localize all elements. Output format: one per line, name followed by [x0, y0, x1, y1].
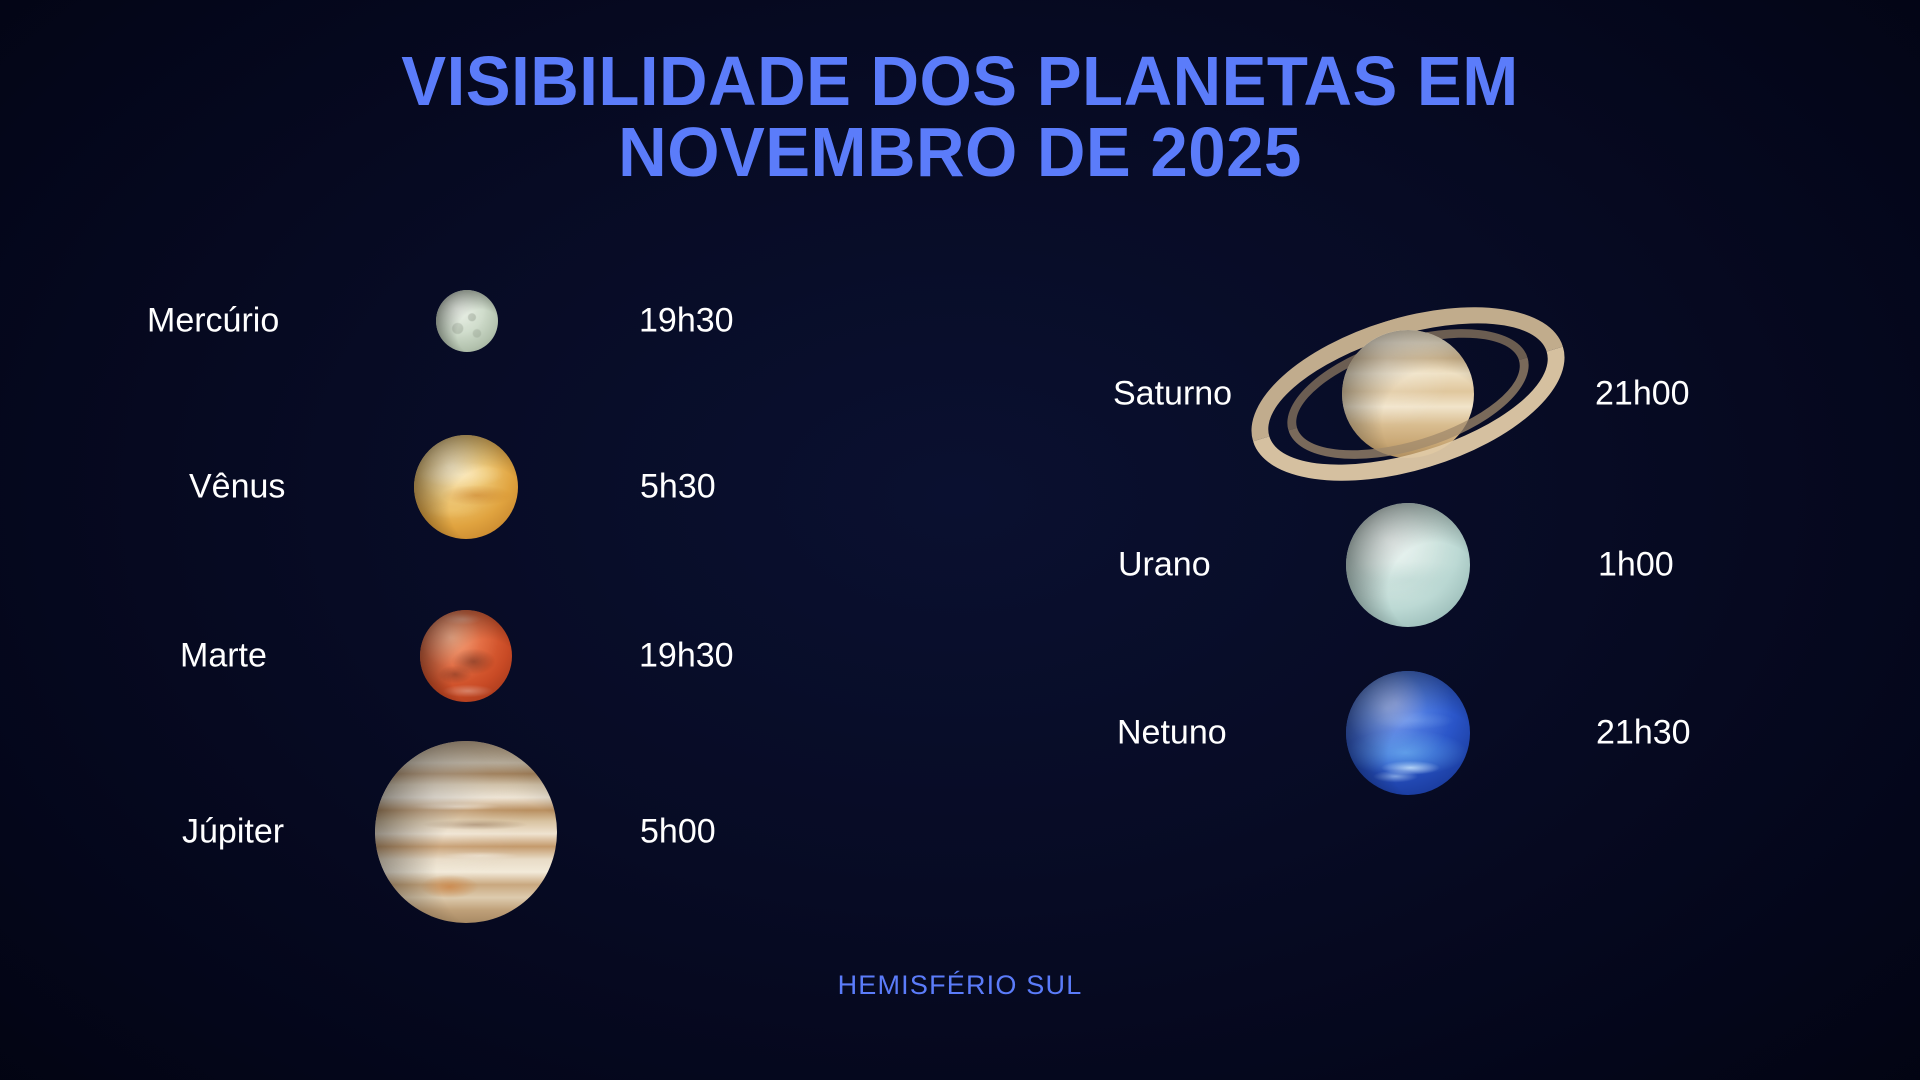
hemisphere-caption: HEMISFÉRIO SUL	[0, 970, 1920, 1001]
planet-name-mercurio: Mercúrio	[147, 302, 279, 341]
planet-mars-icon	[420, 610, 512, 702]
planet-time-urano: 1h00	[1598, 546, 1674, 585]
page-title-line-1: VISIBILIDADE DOS PLANETAS EM	[38, 46, 1881, 117]
planet-time-mercurio: 19h30	[639, 302, 734, 341]
planet-neptune-icon	[1346, 671, 1470, 795]
planet-time-netuno: 21h30	[1596, 714, 1691, 753]
planet-time-venus: 5h30	[640, 468, 716, 507]
planet-name-venus: Vênus	[189, 468, 285, 507]
planet-time-marte: 19h30	[639, 637, 734, 676]
planet-name-jupiter: Júpiter	[182, 813, 284, 852]
planet-saturn-icon	[1258, 319, 1558, 469]
planet-jupiter-icon	[375, 741, 557, 923]
page-title-line-2: NOVEMBRO DE 2025	[38, 117, 1881, 188]
planet-name-netuno: Netuno	[1117, 714, 1227, 753]
planet-name-urano: Urano	[1118, 546, 1211, 585]
planet-name-marte: Marte	[180, 637, 267, 676]
planet-venus-icon	[414, 435, 518, 539]
planet-mercury-icon	[436, 290, 498, 352]
planet-name-saturno: Saturno	[1113, 375, 1232, 414]
planet-uranus-icon	[1346, 503, 1470, 627]
planet-time-jupiter: 5h00	[640, 813, 716, 852]
planet-time-saturno: 21h00	[1595, 375, 1690, 414]
planet-visibility-poster: VISIBILIDADE DOS PLANETAS EM NOVEMBRO DE…	[0, 0, 1920, 1080]
page-title: VISIBILIDADE DOS PLANETAS EM NOVEMBRO DE…	[38, 46, 1881, 189]
